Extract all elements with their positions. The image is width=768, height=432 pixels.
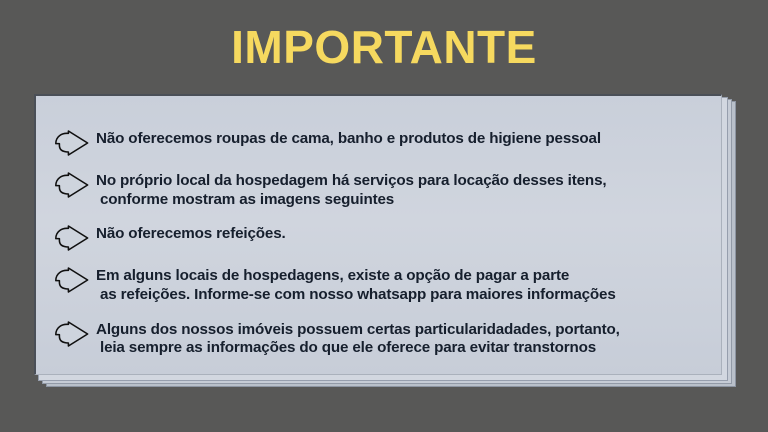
slide-root: IMPORTANTE Não oferecemos roupas de cama… bbox=[0, 0, 768, 432]
block-arrow-right-icon bbox=[54, 225, 90, 251]
list-item-line1: Em alguns locais de hospedagens, existe … bbox=[96, 267, 569, 284]
list-item: Em alguns locais de hospedagens, existe … bbox=[36, 267, 724, 304]
bullet-list: Não oferecemos roupas de cama, banho e p… bbox=[36, 130, 724, 374]
list-item-text: Não oferecemos refeições. bbox=[96, 225, 714, 244]
list-item-text: Não oferecemos roupas de cama, banho e p… bbox=[96, 130, 714, 149]
list-item-text: Alguns dos nossos imóveis possuem certas… bbox=[96, 321, 714, 358]
list-item-text: Em alguns locais de hospedagens, existe … bbox=[96, 267, 714, 304]
block-arrow-right-icon bbox=[54, 130, 90, 156]
list-item-line2: conforme mostram as imagens seguintes bbox=[100, 191, 714, 210]
block-arrow-right-icon bbox=[54, 172, 90, 198]
list-item-line1: Alguns dos nossos imóveis possuem certas… bbox=[96, 321, 620, 338]
content-card: Não oferecemos roupas de cama, banho e p… bbox=[34, 94, 722, 375]
list-item: Não oferecemos roupas de cama, banho e p… bbox=[36, 130, 724, 156]
list-item-line1: No próprio local da hospedagem há serviç… bbox=[96, 172, 606, 189]
list-item-line1: Não oferecemos roupas de cama, banho e p… bbox=[96, 130, 601, 147]
list-item: Alguns dos nossos imóveis possuem certas… bbox=[36, 321, 724, 358]
list-item-line1: Não oferecemos refeições. bbox=[96, 225, 286, 242]
list-item: No próprio local da hospedagem há serviç… bbox=[36, 172, 724, 209]
list-item-text: No próprio local da hospedagem há serviç… bbox=[96, 172, 714, 209]
list-item-line2: leia sempre as informações do que ele of… bbox=[100, 339, 714, 358]
list-item-line2: as refeições. Informe-se com nosso whats… bbox=[100, 286, 714, 305]
page-title: IMPORTANTE bbox=[0, 24, 768, 70]
block-arrow-right-icon bbox=[54, 267, 90, 293]
block-arrow-right-icon bbox=[54, 321, 90, 347]
list-item: Não oferecemos refeições. bbox=[36, 225, 724, 251]
